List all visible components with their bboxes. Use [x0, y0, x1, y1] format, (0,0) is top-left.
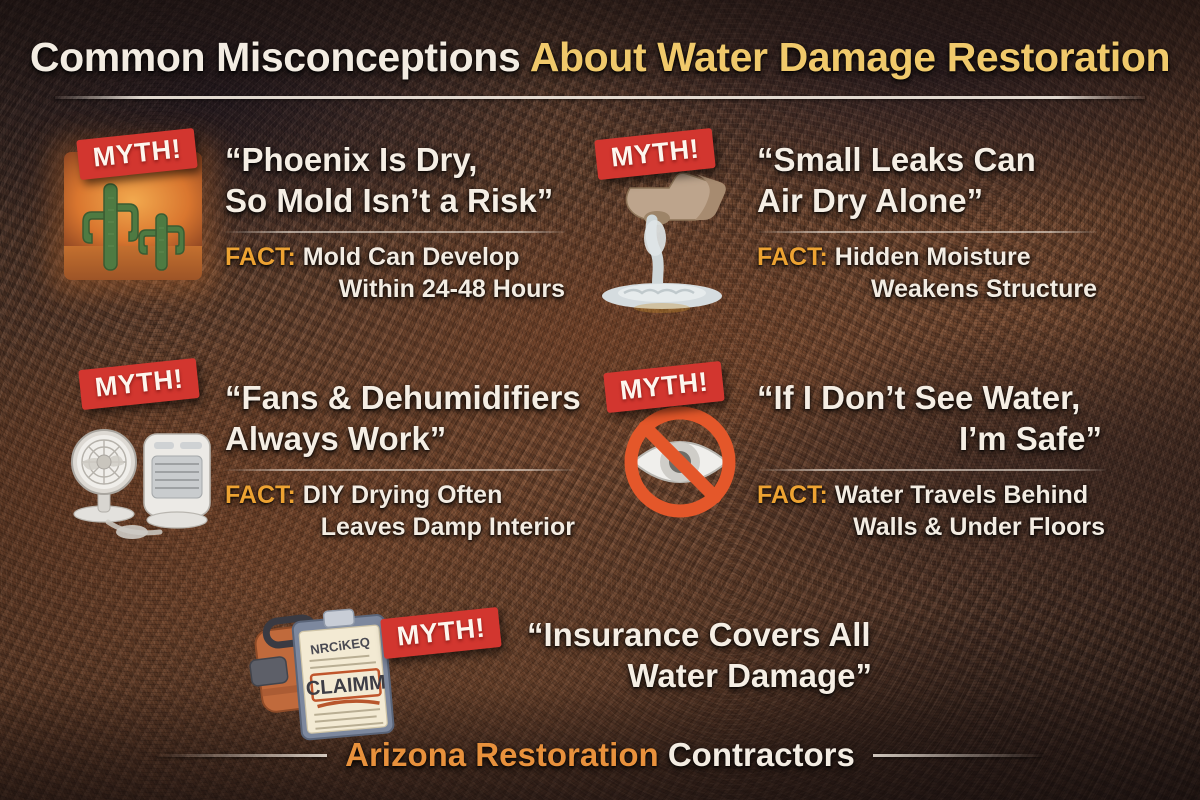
fact-label: FACT: [225, 243, 296, 271]
myth-statement-line2: Air Dry Alone” [757, 181, 1097, 222]
card-divider [225, 231, 565, 233]
title-divider [55, 96, 1145, 99]
myth-statement-line1: “Phoenix Is Dry, [225, 140, 565, 181]
card-divider [757, 231, 1097, 233]
fact-line1: FACT: Hidden Moisture [757, 241, 1097, 274]
page-title: Common Misconceptions About Water Damage… [0, 34, 1200, 81]
myth-statement-line2: Always Work” [225, 419, 581, 460]
fact-line1: FACT: DIY Drying Often [225, 479, 581, 512]
title-accent: About Water Damage Restoration [520, 34, 1170, 80]
card-divider [225, 469, 575, 471]
footer-brand-primary: Arizona Restoration [345, 736, 659, 773]
fan-dehumidifier-icon [62, 412, 222, 552]
fact-text-1: Water Travels Behind [828, 481, 1088, 509]
myth-statement-line1: “Small Leaks Can [757, 140, 1097, 181]
fact-line1: FACT: Mold Can Develop [225, 241, 565, 274]
footer-brand: Arizona Restoration Contractors [345, 736, 855, 774]
myth-statement-line2: I’m Safe” [757, 419, 1102, 460]
fact-text-1: Mold Can Develop [296, 243, 520, 271]
myth-statement-line2: Water Damage” [527, 656, 872, 697]
footer-divider-left [157, 754, 327, 757]
no-eye-icon [617, 404, 743, 529]
fact-line1: FACT: Water Travels Behind [757, 479, 1105, 512]
card-dont-see-water: “If I Don’t See Water, I’m Safe” FACT: W… [757, 378, 1105, 544]
myth-statement-line1: “If I Don’t See Water, [757, 378, 1105, 419]
poster-header: Common Misconceptions About Water Damage… [0, 34, 1200, 99]
footer-divider-right [873, 754, 1043, 757]
card-insurance-covers-all: “Insurance Covers All Water Damage” [527, 615, 872, 697]
poster-footer: Arizona Restoration Contractors [0, 736, 1200, 774]
card-divider [757, 469, 1105, 471]
fact-label: FACT: [757, 243, 828, 271]
fact-line2: Weakens Structure [757, 273, 1097, 306]
card-fans-dehumidifiers: “Fans & Dehumidifiers Always Work” FACT:… [225, 378, 581, 544]
fact-line2: Walls & Under Floors [757, 511, 1105, 544]
fact-label: FACT: [225, 481, 296, 509]
card-phoenix-dry: “Phoenix Is Dry, So Mold Isn’t a Risk” F… [225, 140, 565, 306]
myth-badge: MYTH! [78, 358, 200, 411]
infographic-poster: Common Misconceptions About Water Damage… [0, 0, 1200, 800]
fact-line2: Within 24-48 Hours [225, 273, 565, 306]
fact-label: FACT: [757, 481, 828, 509]
myth-statement-line2: So Mold Isn’t a Risk” [225, 181, 565, 222]
myth-statement-line1: “Fans & Dehumidifiers [225, 378, 581, 419]
title-primary: Common Misconceptions [30, 34, 520, 80]
footer-brand-suffix: Contractors [659, 736, 855, 773]
fact-line2: Leaves Damp Interior [225, 511, 575, 544]
fact-text-1: Hidden Moisture [828, 243, 1031, 271]
card-small-leaks: “Small Leaks Can Air Dry Alone” FACT: Hi… [757, 140, 1097, 306]
myth-statement-line1: “Insurance Covers All [527, 615, 872, 656]
fact-text-1: DIY Drying Often [296, 481, 503, 509]
